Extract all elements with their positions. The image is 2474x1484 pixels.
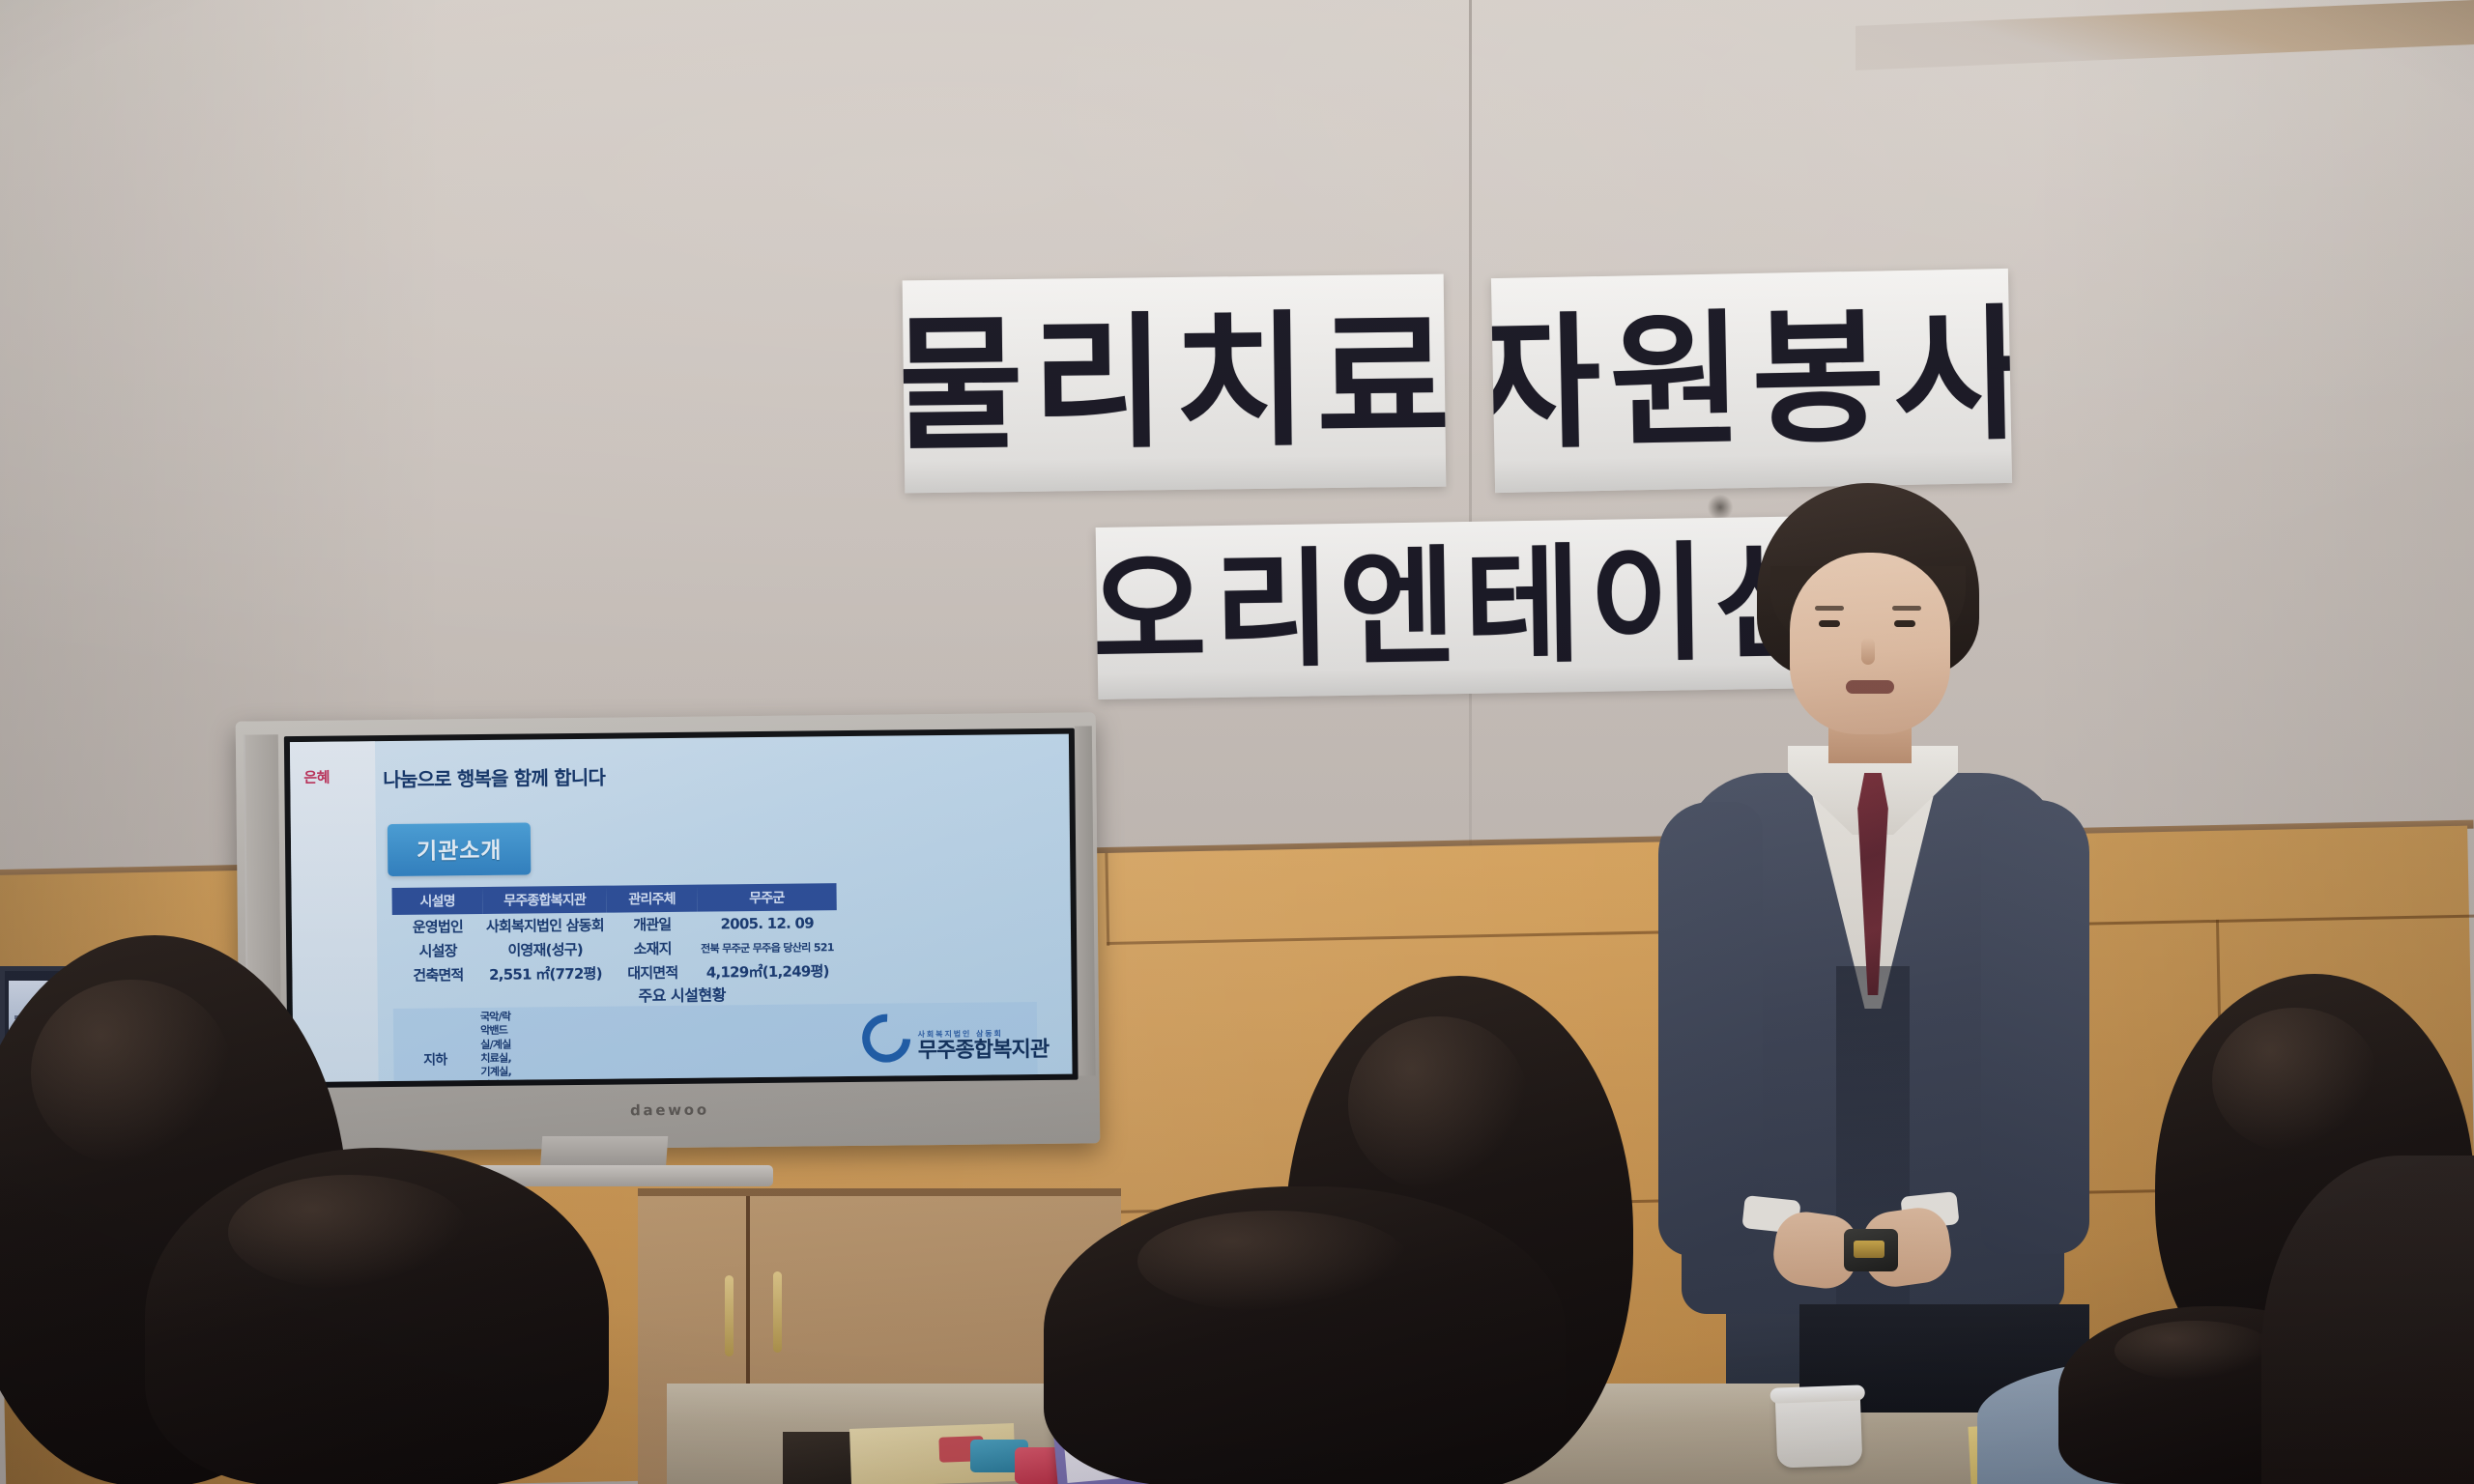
table-cell-label: 건축면적 [392, 962, 483, 987]
presenter-sleeve-right [1981, 800, 2089, 1254]
facility-description: 국악/락악밴드실/계실치료실, 기계실, 전기실, 식당 [476, 1008, 524, 1082]
ring-icon [852, 1004, 921, 1072]
slide-headline: 나눔으로 행복을 함께 합니다 [383, 762, 605, 792]
table-header-cell: 무주종합복지관 [482, 886, 606, 914]
logo-name: 무주종합복지관 [918, 1040, 1050, 1062]
presenter-eyebrow-right [1892, 606, 1921, 611]
table-cell-value: 이영재(성구) [483, 937, 607, 962]
institution-info-table: 시설명 무주종합복지관 관리주체 무주군 운영법인 사회복지법인 삼동회 개관일… [392, 883, 838, 987]
slide-corner-tag: 은혜 [303, 767, 330, 787]
table-header-cell: 무주군 [697, 883, 836, 912]
cup-rim [1769, 1384, 1864, 1403]
table-cell-value: 2005. 12. 09 [698, 910, 837, 936]
organization-logo: 사회복지법인 삼동회 무주종합복지관 [862, 1013, 1049, 1063]
tv-speaker-right [1075, 726, 1096, 1075]
banner-text: 물리치료 [903, 307, 1447, 459]
table-cell-label: 대지면적 [607, 960, 698, 985]
presenter-sleeve-left [1658, 802, 1763, 1256]
banner-text: 자원봉사 [1491, 302, 2012, 458]
presenter-eyebrow-left [1815, 606, 1844, 611]
presenter-face [1790, 553, 1950, 734]
presenter-mouth [1846, 680, 1894, 694]
banner-sign-line1-part2: 자원봉사 [1491, 269, 2012, 493]
table-cell-value: 전북 무주군 무주읍 당산리 521 [698, 934, 837, 960]
banner-sign-line1-part1: 물리치료 [903, 274, 1447, 494]
presenter-nose [1861, 638, 1875, 665]
tv-brand-label: daewoo [240, 1097, 1100, 1123]
presenter-eye-left [1819, 620, 1840, 627]
table-cell-label: 운영법인 [392, 914, 483, 939]
audience-head [145, 1148, 609, 1484]
table-header-cell: 시설명 [392, 887, 483, 915]
cabinet-top-edge [638, 1188, 1121, 1196]
table-header-cell: 관리주체 [606, 885, 697, 913]
paper-cup[interactable] [1775, 1389, 1863, 1468]
cabinet-handle[interactable] [773, 1271, 782, 1353]
table-cell-label: 개관일 [607, 912, 698, 937]
cabinet-handle[interactable] [725, 1275, 734, 1356]
table-cell-label: 시설장 [392, 938, 483, 963]
presentation-slide: 은혜 나눔으로 행복을 함께 합니다 기관소개 시설명 무주종합복지관 관리주체… [290, 734, 1073, 1082]
audience-head [1044, 1186, 1566, 1484]
table-cell-label: 소재지 [607, 936, 698, 961]
slide-section-title: 기관소개 [388, 822, 532, 876]
presenter-person [1643, 483, 2097, 1411]
presentation-clicker-device[interactable] [1844, 1229, 1898, 1271]
facility-floor: 지하 [393, 1008, 477, 1082]
logo-text-block: 사회복지법인 삼동회 무주종합복지관 [918, 1030, 1050, 1062]
tv-screen-bezel: 은혜 나눔으로 행복을 함께 합니다 기관소개 시설명 무주종합복지관 관리주체… [284, 728, 1079, 1089]
table-cell-value: 사회복지법인 삼동회 [483, 913, 607, 938]
presenter-eye-right [1894, 620, 1915, 627]
slide-left-band [290, 741, 379, 1082]
wood-seam-vertical [1105, 853, 1109, 946]
classroom-scene: 물리치료 자원봉사 오리엔테이션 daewoo 은혜 나눔으로 행복을 함께 합… [0, 0, 2474, 1484]
television-display[interactable]: daewoo 은혜 나눔으로 행복을 함께 합니다 기관소개 시설명 무주종합복… [236, 712, 1101, 1152]
